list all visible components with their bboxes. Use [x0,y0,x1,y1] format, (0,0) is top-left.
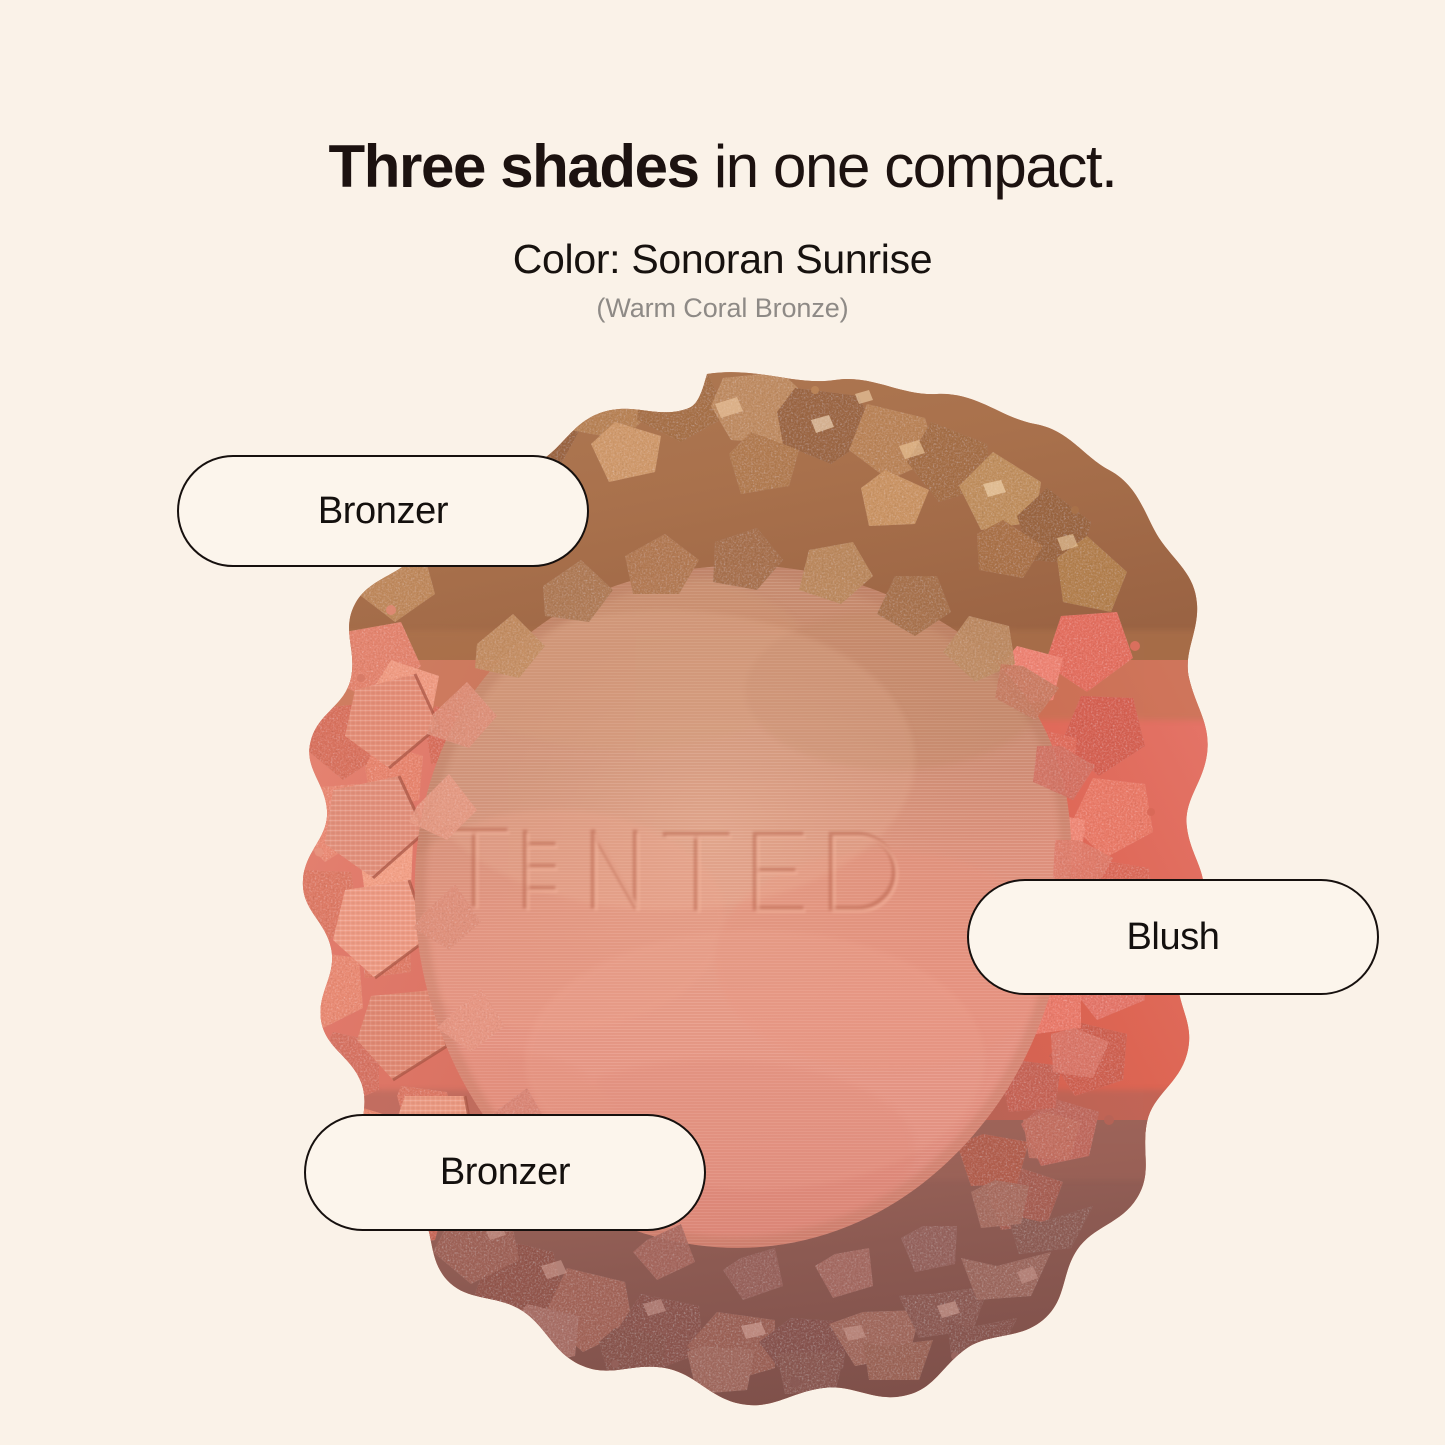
product-marketing-image: Three shades in one compact. Color: Sono… [0,0,1445,1445]
callout-bronzer-bottom[interactable]: Bronzer [304,1114,706,1231]
page-title: Three shades in one compact. [0,131,1445,203]
callout-bronzer-top[interactable]: Bronzer [177,455,589,567]
callout-blush[interactable]: Blush [967,879,1379,995]
shade-description: (Warm Coral Bronze) [0,291,1445,325]
headline-rest: in one compact. [699,133,1117,200]
callout-label: Blush [1126,916,1219,959]
shade-name: Color: Sonoran Sunrise [0,234,1445,284]
callout-label: Bronzer [318,490,448,533]
callout-label: Bronzer [440,1151,570,1194]
headline-strong: Three shades [329,133,699,200]
